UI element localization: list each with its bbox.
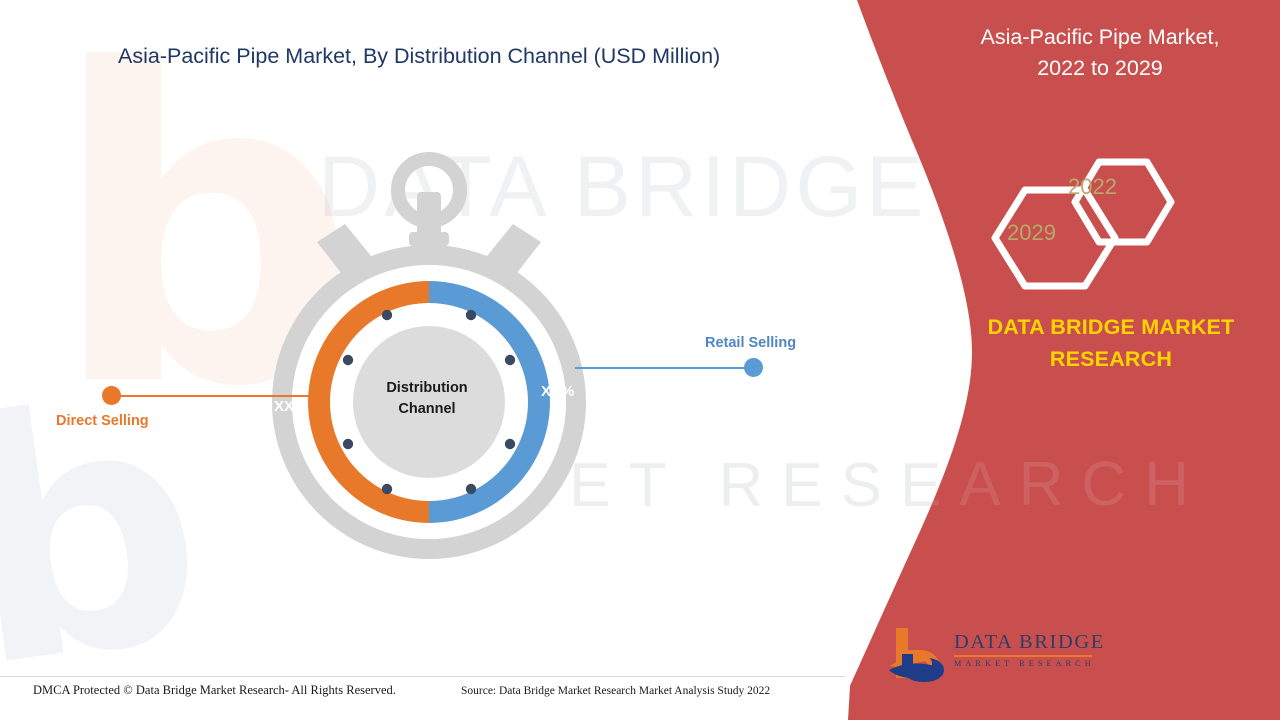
logo-mark-icon xyxy=(888,626,952,684)
donut-center-label: Distribution Channel xyxy=(343,378,511,420)
segment-value-direct-selling: XX% xyxy=(274,398,307,415)
callout-label-direct-selling: Direct Selling xyxy=(56,413,149,429)
right-panel-heading-line1: Asia-Pacific Pipe Market, xyxy=(930,22,1270,53)
donut-center-label-line2: Channel xyxy=(343,399,511,420)
brand-name-line2: RESEARCH xyxy=(948,343,1274,375)
right-panel-heading-line2: 2022 to 2029 xyxy=(930,53,1270,84)
callout-label-retail-selling: Retail Selling xyxy=(705,335,796,351)
stopwatch-donut-chart xyxy=(239,132,619,572)
logo-wordmark: DATA BRIDGE MARKET RESEARCH xyxy=(954,631,1105,668)
callout-line-direct-selling xyxy=(119,395,311,397)
logo-name-main: DATA BRIDGE xyxy=(954,631,1105,654)
right-panel-heading: Asia-Pacific Pipe Market, 2022 to 2029 xyxy=(930,22,1270,83)
callout-dot-retail-selling xyxy=(744,358,763,377)
brand-name-line1: DATA BRIDGE MARKET xyxy=(948,311,1274,343)
logo-divider xyxy=(954,655,1092,657)
year-hexagons: 2022 2029 xyxy=(975,140,1195,300)
hexagon-label-2029: 2029 xyxy=(1007,220,1056,246)
page-title: Asia-Pacific Pipe Market, By Distributio… xyxy=(118,44,720,69)
footer-copyright: DMCA Protected © Data Bridge Market Rese… xyxy=(33,683,396,698)
segment-value-retail-selling: XX% xyxy=(541,383,574,400)
logo-name-sub: MARKET RESEARCH xyxy=(954,659,1105,668)
hexagon-label-2022: 2022 xyxy=(1068,174,1117,200)
callout-line-retail-selling xyxy=(575,367,750,369)
infographic-canvas: b b DATA BRIDGE MARKET RESEARCH DATA BRI… xyxy=(0,0,1280,720)
callout-dot-direct-selling xyxy=(102,386,121,405)
footer-source: Source: Data Bridge Market Research Mark… xyxy=(461,685,770,697)
brand-name-heading: DATA BRIDGE MARKET RESEARCH xyxy=(948,311,1274,376)
footer-divider xyxy=(0,676,845,677)
stopwatch-crown xyxy=(398,159,460,246)
data-bridge-logo: DATA BRIDGE MARKET RESEARCH xyxy=(888,626,1103,688)
donut-center-label-line1: Distribution xyxy=(343,378,511,399)
